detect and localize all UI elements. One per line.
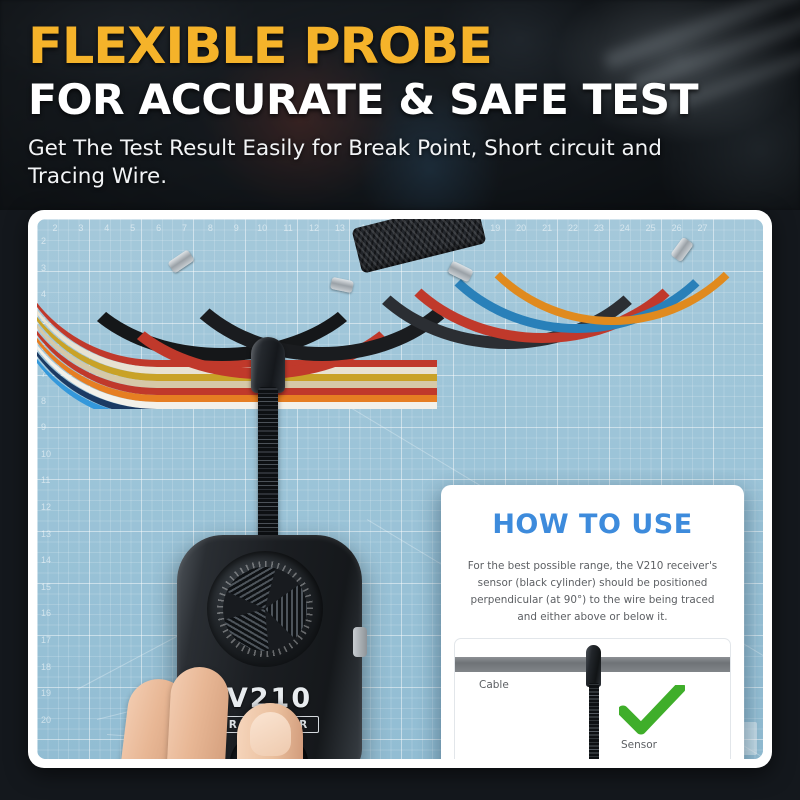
- howto-body-text: For the best possible range, the V210 re…: [454, 558, 731, 625]
- diagram-cable-label: Cable: [479, 679, 509, 691]
- howto-card: HOW TO USE For the best possible range, …: [441, 485, 744, 759]
- diagram-correct: Cable Sensor: [454, 638, 731, 759]
- hand: [125, 651, 355, 759]
- ruler-tick-left: 15: [41, 582, 51, 592]
- ruler-tick-left: 14: [41, 555, 51, 565]
- howto-title: HOW TO USE: [454, 509, 731, 540]
- ruler-tick-left: 18: [41, 662, 51, 672]
- page-title: FLEXIBLE PROBE: [28, 22, 800, 71]
- speaker-grille-icon: [207, 551, 323, 667]
- page-subtitle: FOR ACCURATE & SAFE TEST: [28, 79, 796, 122]
- device-side-button[interactable]: [353, 627, 367, 657]
- grille-fan-pattern: [223, 567, 307, 651]
- ruler-tick-left: 12: [41, 502, 51, 512]
- diagram-sensor-label: Sensor: [621, 739, 657, 751]
- diagram-probe-neck: [589, 683, 599, 759]
- ruler-tick-left: 13: [41, 529, 51, 539]
- thumbnail: [250, 712, 291, 756]
- ruler-tick-left: 19: [41, 688, 51, 698]
- ruler-tick-left: 10: [41, 449, 51, 459]
- product-photo-frame: 2345678910111213141516171819202122232425…: [28, 210, 772, 768]
- finger: [166, 666, 230, 759]
- ruler-tick-left: 11: [41, 475, 50, 485]
- diagram-probe-tip: [586, 645, 601, 687]
- thumb: [237, 703, 303, 759]
- probe-sensor-tip: [251, 337, 285, 393]
- ruler-tick-left: 17: [41, 635, 51, 645]
- ruler-tick-left: 16: [41, 608, 51, 618]
- diagram-probe: [586, 645, 602, 759]
- product-photo: 2345678910111213141516171819202122232425…: [37, 219, 763, 759]
- header-text-block: FLEXIBLE PROBE FOR ACCURATE & SAFE TEST …: [28, 22, 788, 192]
- ruler-tick-left: 20: [41, 715, 51, 725]
- ruler-tick-left: 9: [41, 422, 46, 432]
- check-icon: [619, 685, 685, 735]
- header-banner: FLEXIBLE PROBE FOR ACCURATE & SAFE TEST …: [0, 0, 800, 210]
- page-description: Get The Test Result Easily for Break Poi…: [28, 135, 728, 192]
- wire-bundle: [37, 219, 763, 409]
